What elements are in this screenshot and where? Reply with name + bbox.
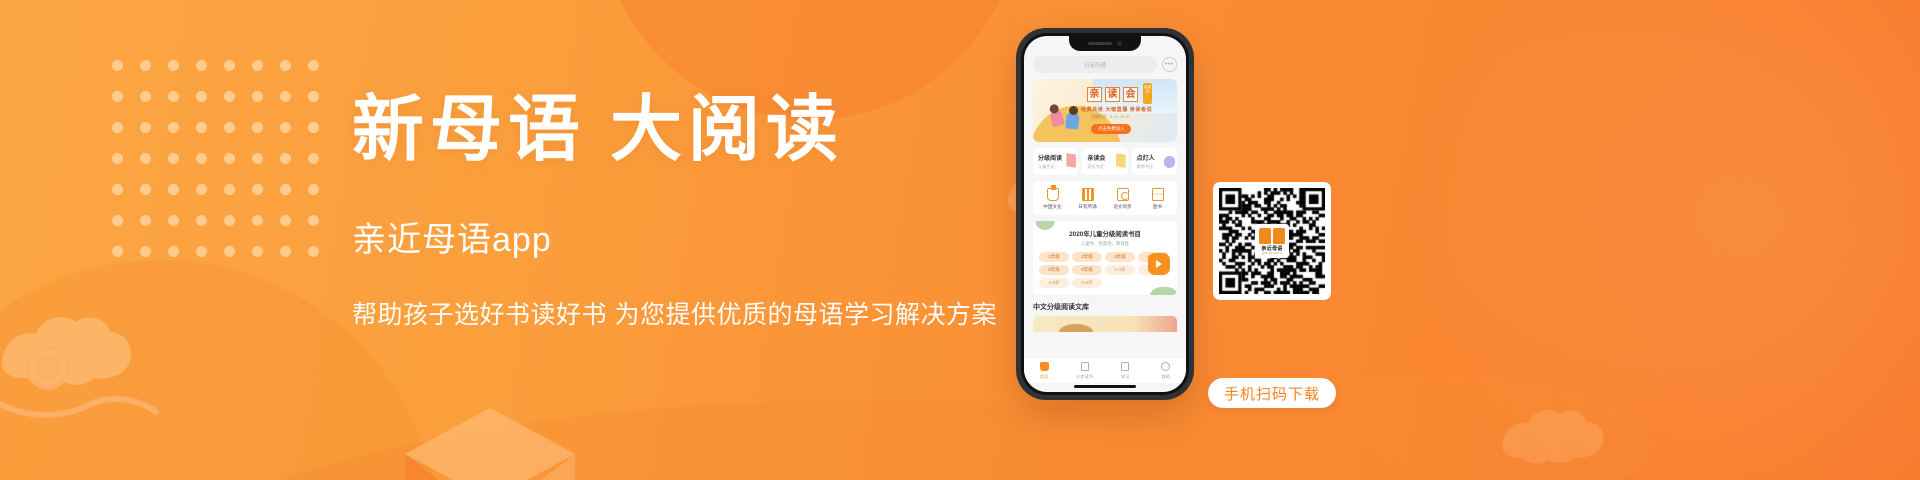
promo-ribbon: 亲读会 [1143, 83, 1152, 104]
tab-学习[interactable]: 学习 [1105, 362, 1146, 380]
dot [140, 60, 151, 71]
book-icon [1066, 153, 1076, 168]
dot [196, 91, 207, 102]
play-icon [1156, 260, 1162, 268]
dot [252, 246, 263, 257]
quick-icon-item[interactable]: 日有所诵 [1070, 187, 1105, 210]
dot [308, 246, 319, 257]
grade-chip[interactable]: 6年级 [1072, 265, 1102, 275]
dot [308, 153, 319, 164]
promo-title: 亲 读 会 [1087, 87, 1138, 102]
play-video-button[interactable] [1148, 253, 1170, 275]
banner-headline: 新母语 大阅读 [352, 92, 1012, 170]
dot [168, 153, 179, 164]
tab-首页[interactable]: 首页 [1024, 362, 1065, 380]
dot [224, 184, 235, 195]
quick-icon-label: 中国文化 [1035, 204, 1070, 210]
phone-notch [1069, 36, 1141, 51]
download-button[interactable]: 手机扫码下载 [1208, 378, 1336, 408]
qr-logo-title: 亲近母语 [1261, 245, 1282, 252]
tab-label: 首页 [1024, 374, 1065, 380]
grade-chip[interactable]: 1年级 [1039, 252, 1069, 262]
dot [168, 184, 179, 195]
dot [140, 215, 151, 226]
dot [196, 215, 207, 226]
dot [308, 184, 319, 195]
decorative-cloud-icon-bottom-right [1492, 396, 1679, 480]
dot [140, 91, 151, 102]
dot [112, 246, 123, 257]
dot [140, 122, 151, 133]
dot [196, 122, 207, 133]
dot [168, 60, 179, 71]
home-icon [1040, 362, 1049, 371]
tab-我的[interactable]: 我的 [1146, 362, 1187, 380]
dot [140, 246, 151, 257]
dot [196, 60, 207, 71]
dot [168, 91, 179, 102]
quick-icon-row: 中国文化日有所诵语文同步图书 [1033, 181, 1177, 215]
banner-copy: 新母语 大阅读 亲近母语app 帮助孩子选好书读好书 为您提供优质的母语学习解决… [352, 92, 1012, 331]
app-tab-bar: 首页小步读书学习我的 [1024, 357, 1186, 383]
phone-screen: 日有所诵 ••• 亲 读 会 亲读会 经典 [1024, 36, 1186, 392]
dot [280, 184, 291, 195]
promo-subtitle: 经典共读 大咖直播 亲读者说 [1081, 106, 1152, 113]
library-title: 中文分级阅读文库 [1033, 302, 1177, 312]
dot [112, 122, 123, 133]
decorative-cloud-icon [0, 300, 190, 440]
grade-subtitle: 儿童性、经典性、教育性 [1039, 241, 1171, 247]
dot [112, 91, 123, 102]
promo-char-2: 读 [1105, 87, 1120, 102]
qr-center-logo: 亲近母语 QINJIN MUYU [1255, 224, 1289, 258]
dot [252, 215, 263, 226]
dot [252, 122, 263, 133]
category-card-list: 分级阅读儿童专区亲读会家长专区点灯人教师专区 [1033, 148, 1177, 175]
grade-chip[interactable]: 3年级 [1105, 252, 1135, 262]
qr-code-area: 亲近母语 QINJIN MUYU [1213, 182, 1331, 300]
app-promo-banner[interactable]: 亲 读 会 亲读会 经典共读 大咖直播 亲读者说 直播时间：9 / 6 - 9 … [1033, 79, 1177, 142]
library-section: 中文分级阅读文库 [1033, 302, 1177, 332]
qr-logo-subtitle: QINJIN MUYU [1262, 252, 1282, 255]
tab-label: 小步读书 [1065, 374, 1106, 380]
phone-mockup: 日有所诵 ••• 亲 读 会 亲读会 经典 [1016, 28, 1194, 400]
dot [224, 91, 235, 102]
dot [308, 60, 319, 71]
promo-char-1: 亲 [1087, 87, 1102, 102]
dot [280, 60, 291, 71]
age-chip[interactable]: 4-5岁 [1039, 278, 1069, 288]
camera-icon [1117, 41, 1122, 46]
dot [112, 184, 123, 195]
quick-icon-label: 图书 [1140, 204, 1175, 210]
dot [224, 60, 235, 71]
decorative-arc [120, 400, 1620, 480]
dot [224, 153, 235, 164]
promo-char-3: 会 [1123, 87, 1138, 102]
profile-icon [1161, 362, 1170, 371]
age-chip[interactable]: 0-3岁 [1105, 265, 1135, 275]
dot [112, 153, 123, 164]
category-card[interactable]: 分级阅读儿童专区 [1033, 148, 1078, 175]
decorative-glow [1380, 0, 1920, 480]
grade-title: 2020年儿童分级阅读书目 [1039, 229, 1171, 238]
quick-icon-label: 语文同步 [1105, 204, 1140, 210]
sync-icon [1117, 188, 1129, 201]
dot [308, 91, 319, 102]
dot [140, 153, 151, 164]
dot [224, 122, 235, 133]
dot [112, 60, 123, 71]
qr-code[interactable]: 亲近母语 QINJIN MUYU [1213, 182, 1331, 300]
tab-小步读书[interactable]: 小步读书 [1065, 362, 1106, 380]
promo-date: 直播时间：9 / 6 - 9 / 27 [1091, 115, 1130, 120]
dot [140, 184, 151, 195]
decorative-cube [400, 408, 580, 480]
dot [308, 215, 319, 226]
quick-icon-item[interactable]: 语文同步 [1105, 187, 1140, 210]
grade-chip[interactable]: 2年级 [1072, 252, 1102, 262]
dot [252, 153, 263, 164]
dot [168, 215, 179, 226]
category-card[interactable]: 亲读会家长专区 [1082, 148, 1127, 175]
category-card[interactable]: 点灯人教师专区 [1132, 148, 1177, 175]
promo-child-illustration-2 [1065, 111, 1080, 129]
grade-chip[interactable]: 5年级 [1039, 265, 1069, 275]
dot [280, 153, 291, 164]
quick-icon-item[interactable]: 图书 [1140, 187, 1175, 210]
promo-banner: 新母语 大阅读 亲近母语app 帮助孩子选好书读好书 为您提供优质的母语学习解决… [0, 0, 1920, 480]
bottle-icon [1047, 188, 1059, 201]
dot [196, 184, 207, 195]
library-cover-strip[interactable] [1033, 316, 1177, 332]
dot [280, 91, 291, 102]
quick-icon-item[interactable]: 中国文化 [1035, 187, 1070, 210]
dot [280, 122, 291, 133]
dot [196, 246, 207, 257]
decorative-phone-shadow-ellipse [1130, 370, 1650, 480]
book-logo-icon [1259, 228, 1285, 244]
age-chip[interactable]: 5-6岁 [1072, 278, 1102, 288]
document-icon [1081, 362, 1089, 371]
promo-cta-button[interactable]: 点击免费加入 [1091, 124, 1131, 134]
dot [252, 184, 263, 195]
dot [224, 246, 235, 257]
dot [196, 153, 207, 164]
banner-subline: 亲近母语app [352, 212, 1012, 261]
grade-booklist-section: 2020年儿童分级阅读书目 儿童性、经典性、教育性 1年级2年级3年级4年级5年… [1033, 221, 1177, 295]
dot [224, 215, 235, 226]
book-icon [1116, 153, 1126, 168]
speaker-icon [1088, 42, 1112, 45]
dot [280, 215, 291, 226]
banner-tagline: 帮助孩子选好书读好书 为您提供优质的母语学习解决方案 [352, 295, 1012, 331]
search-input[interactable]: 日有所诵 [1033, 56, 1157, 73]
app-search-bar[interactable]: 日有所诵 ••• [1033, 56, 1177, 73]
library-icon [1152, 188, 1164, 201]
book-icon [1164, 156, 1175, 168]
home-indicator [1074, 385, 1136, 388]
tab-label: 学习 [1105, 374, 1146, 380]
dot [280, 246, 291, 257]
book-icon [1082, 188, 1094, 201]
leaf-decoration-right [1149, 287, 1177, 295]
checklist-icon [1121, 362, 1129, 371]
more-icon[interactable]: ••• [1162, 57, 1177, 72]
quick-icon-label: 日有所诵 [1070, 204, 1105, 210]
dot [308, 122, 319, 133]
dot [252, 60, 263, 71]
dot [252, 91, 263, 102]
dot [168, 122, 179, 133]
dot [112, 215, 123, 226]
dot [168, 246, 179, 257]
grade-chip-list: 1年级2年级3年级4年级5年级6年级0-3岁3-4岁4-5岁5-6岁 [1039, 252, 1171, 288]
tab-label: 我的 [1146, 374, 1187, 380]
